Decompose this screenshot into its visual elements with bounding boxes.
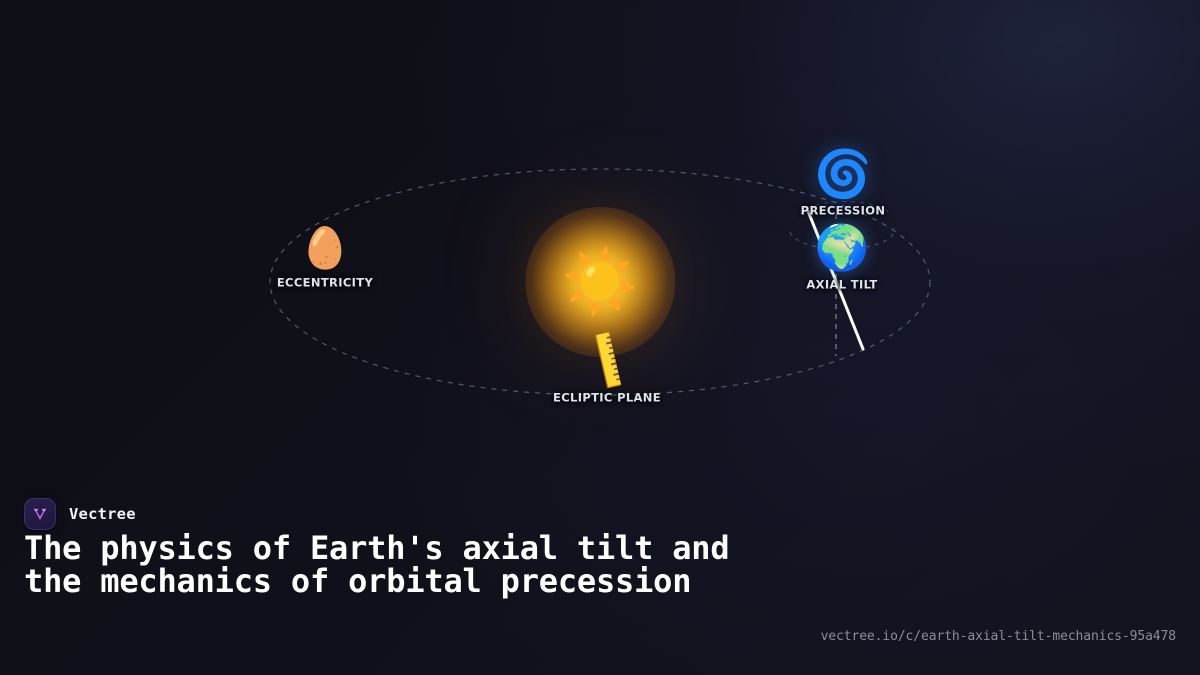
node-ecliptic-plane-label: ECLIPTIC PLANE [553,391,661,405]
brand[interactable]: Vectree [24,498,136,530]
page-title: The physics of Earth's axial tilt and th… [24,532,784,598]
earth-globe-icon: 🌍 [806,227,877,271]
egg-icon: 🥚 [277,229,373,269]
card-footer: Vectree The physics of Earth's axial til… [0,480,1200,675]
cyclone-spiral-icon: 🌀 [801,151,886,197]
vectree-v-logo-icon [24,498,56,530]
orbit-svg [0,0,1200,480]
node-precession[interactable]: 🌀 PRECESSION [801,151,886,218]
node-precession-label: PRECESSION [801,204,886,218]
share-card: ☀️ 🥚 ECCENTRICITY 🌀 PRECESSION 🌍 AXIAL T… [0,0,1200,675]
node-sun[interactable]: ☀️ [561,251,638,313]
sun-icon: ☀️ [561,251,638,313]
node-eccentricity-label: ECCENTRICITY [277,276,373,290]
node-eccentricity[interactable]: 🥚 ECCENTRICITY [277,229,373,290]
footer-url: vectree.io/c/earth-axial-tilt-mechanics-… [821,629,1176,644]
node-ecliptic-plane[interactable]: 📏 ECLIPTIC PLANE [553,340,661,405]
node-axial-tilt[interactable]: 🌍 AXIAL TILT [806,227,877,292]
node-axial-tilt-label: AXIAL TILT [806,278,877,292]
brand-name: Vectree [69,505,136,523]
orbital-diagram: ☀️ 🥚 ECCENTRICITY 🌀 PRECESSION 🌍 AXIAL T… [0,0,1200,480]
